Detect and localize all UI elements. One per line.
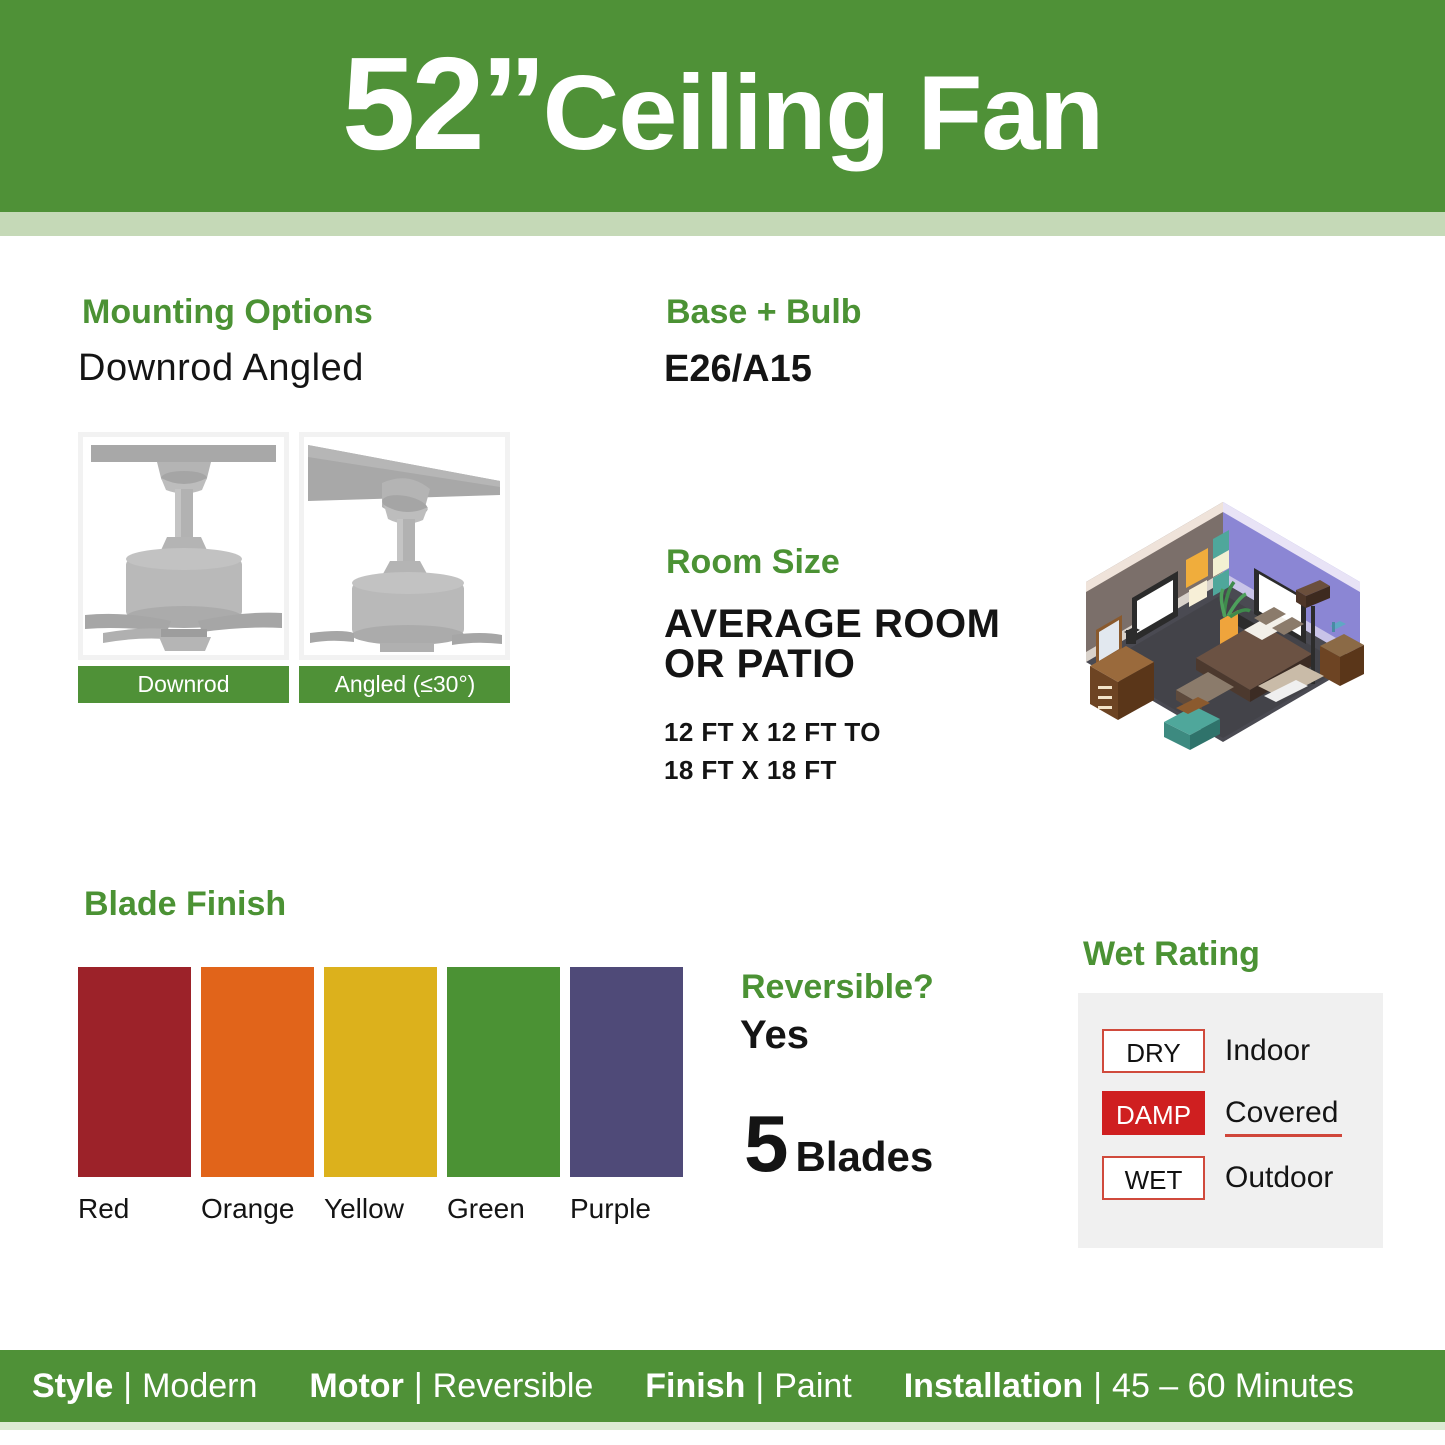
wet-label: Indoor <box>1225 1034 1310 1068</box>
blade-swatch-yellow[interactable]: Yellow <box>324 967 437 1225</box>
footer-spec-value: Modern <box>142 1367 257 1405</box>
footer-spec-key: Motor <box>309 1367 403 1405</box>
footer-spec-value: 45 – 60 Minutes <box>1112 1367 1354 1405</box>
product-name-label: Ceiling Fan <box>543 54 1103 172</box>
footer-spec-key: Style <box>32 1367 113 1405</box>
blade-finish-swatches: RedOrangeYellowGreenPurple <box>78 967 693 1225</box>
reversible-value: Yes <box>740 1013 809 1058</box>
swatch-label: Orange <box>201 1193 314 1225</box>
footer-spec-key: Finish <box>645 1367 745 1405</box>
reversible-title: Reversible? <box>741 969 934 1006</box>
angled-caption: Angled (≤30°) <box>299 666 510 703</box>
footer-accent-bar <box>0 1422 1445 1430</box>
downrod-mount-image <box>78 432 289 660</box>
footer-spec-value: Reversible <box>433 1367 594 1405</box>
wet-label: Outdoor <box>1225 1161 1333 1195</box>
mounting-thumbnails: Downrod <box>78 432 516 703</box>
footer-spec-key: Installation <box>904 1367 1083 1405</box>
footer-spec-separator: | <box>123 1367 132 1405</box>
footer-spec-list: Style|ModernMotor|ReversibleFinish|Paint… <box>0 1350 1445 1422</box>
blade-swatch-red[interactable]: Red <box>78 967 191 1225</box>
angled-mount-image <box>299 432 510 660</box>
footer-spec-separator: | <box>414 1367 423 1405</box>
isometric-bedroom-icon <box>1068 470 1378 760</box>
mounting-option-angled: Angled (≤30°) <box>299 432 510 703</box>
product-infographic: 52”Ceiling Fan Mounting Options Downrod … <box>0 0 1445 1445</box>
footer-spec-style: Style|Modern <box>32 1367 257 1406</box>
color-chip <box>78 967 191 1177</box>
blade-count-label: Blades <box>796 1133 934 1180</box>
swatch-label: Red <box>78 1193 191 1225</box>
mounting-option-downrod: Downrod <box>78 432 289 703</box>
footer-spec-value: Paint <box>774 1367 852 1405</box>
footer-spec-separator: | <box>755 1367 764 1405</box>
wet-badge: DAMP <box>1102 1091 1205 1135</box>
ceiling-fan-downrod-icon <box>83 437 284 655</box>
wet-label: Covered <box>1225 1096 1338 1130</box>
blade-count: 5Blades <box>744 1098 933 1190</box>
mounting-options-title: Mounting Options <box>82 294 373 331</box>
mounting-options-subtitle: Downrod Angled <box>78 347 364 391</box>
swatch-label: Purple <box>570 1193 683 1225</box>
blade-swatch-orange[interactable]: Orange <box>201 967 314 1225</box>
wet-rating-row-dry[interactable]: DRYIndoor <box>1102 1029 1310 1073</box>
color-chip <box>324 967 437 1177</box>
downrod-caption: Downrod <box>78 666 289 703</box>
wet-badge: WET <box>1102 1156 1205 1200</box>
fan-size-label: 52” <box>342 30 543 177</box>
wet-rating-row-wet[interactable]: WETOutdoor <box>1102 1156 1333 1200</box>
footer-spec-installation: Installation|45 – 60 Minutes <box>904 1367 1354 1406</box>
page-title: 52”Ceiling Fan <box>0 38 1445 170</box>
color-chip <box>201 967 314 1177</box>
room-size-dimensions: 12 FT X 12 FT TO 18 FT X 18 FT <box>664 714 881 789</box>
wet-rating-panel: DRYIndoorDAMPCoveredWETOutdoor <box>1078 993 1383 1248</box>
blade-finish-title: Blade Finish <box>84 886 286 923</box>
base-bulb-value: E26/A15 <box>664 348 812 392</box>
room-size-title: Room Size <box>666 544 840 581</box>
wet-rating-title: Wet Rating <box>1083 936 1260 973</box>
blade-swatch-purple[interactable]: Purple <box>570 967 683 1225</box>
color-chip <box>447 967 560 1177</box>
room-size-headline: AVERAGE ROOM OR PATIO <box>664 604 1000 684</box>
header-accent-bar <box>0 212 1445 236</box>
base-bulb-title: Base + Bulb <box>666 294 862 331</box>
blade-count-number: 5 <box>744 1099 788 1188</box>
footer-spec-motor: Motor|Reversible <box>309 1367 593 1406</box>
footer-spec-separator: | <box>1093 1367 1102 1405</box>
color-chip <box>570 967 683 1177</box>
ceiling-fan-angled-icon <box>304 437 505 655</box>
swatch-label: Green <box>447 1193 560 1225</box>
blade-swatch-green[interactable]: Green <box>447 967 560 1225</box>
footer-spec-finish: Finish|Paint <box>645 1367 851 1406</box>
wet-rating-row-damp[interactable]: DAMPCovered <box>1102 1091 1338 1135</box>
swatch-label: Yellow <box>324 1193 437 1225</box>
wet-badge: DRY <box>1102 1029 1205 1073</box>
